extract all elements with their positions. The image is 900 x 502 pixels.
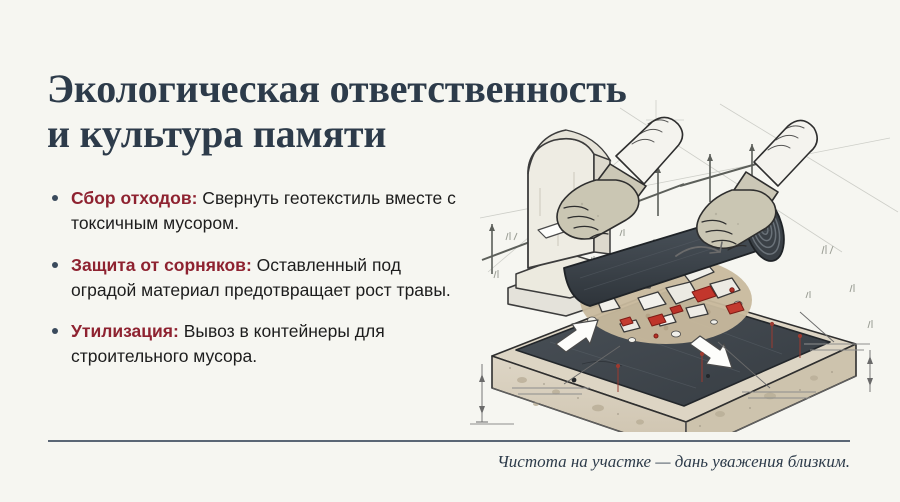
bullet-label: Защита от сорняков: [71, 255, 252, 275]
bullet-dot-icon [52, 195, 58, 201]
slide-root: Экологическая ответственность и культура… [0, 0, 900, 502]
bullet-dot-icon [52, 262, 58, 268]
page-title: Экологическая ответственность и культура… [47, 67, 517, 157]
title-line-2: и культура памяти [47, 112, 517, 157]
footer-caption: Чистота на участке — дань уважения близк… [497, 452, 850, 472]
list-item: Защита от сорняков: Оставленный под огра… [50, 253, 470, 303]
footer-divider [48, 440, 850, 442]
bullet-dot-icon [52, 328, 58, 334]
list-item: Утилизация: Вывоз в контейнеры для строи… [50, 319, 470, 369]
list-item: Сбор отходов: Свернуть геотекстиль вмест… [50, 186, 470, 236]
bullet-label: Сбор отходов: [71, 188, 197, 208]
bullet-list: Сбор отходов: Свернуть геотекстиль вмест… [50, 186, 470, 369]
bullet-label: Утилизация: [71, 321, 179, 341]
title-line-1: Экологическая ответственность [47, 67, 517, 112]
geotextile-removal-diagram [470, 92, 900, 432]
